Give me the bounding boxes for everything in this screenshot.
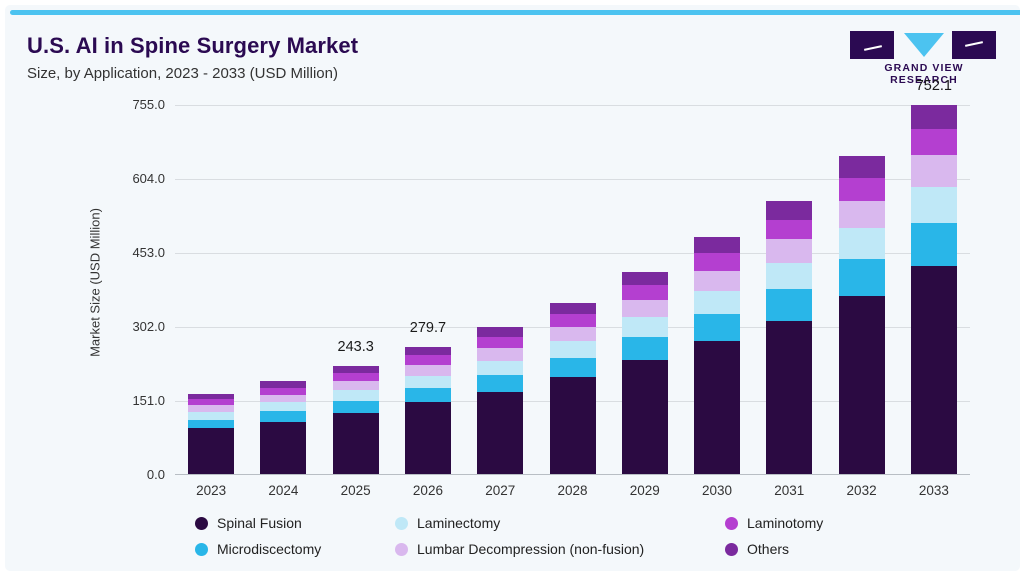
bar-segment[interactable]: [839, 201, 885, 228]
legend-color-swatch: [395, 543, 408, 556]
legend-color-swatch: [195, 517, 208, 530]
bar-stack[interactable]: [839, 156, 885, 474]
x-axis-tick-label: 2025: [316, 483, 396, 498]
bar-segment[interactable]: [333, 401, 379, 413]
bar-stack[interactable]: [766, 201, 812, 474]
bar-segment[interactable]: [405, 365, 451, 376]
y-axis-tick-label: 302.0: [45, 319, 165, 334]
bar-segment[interactable]: [477, 392, 523, 474]
x-axis-tick-label: 2032: [822, 483, 902, 498]
bar-segment[interactable]: [694, 314, 740, 341]
bar-segment[interactable]: [839, 228, 885, 259]
bar-segment[interactable]: [694, 271, 740, 291]
bar-value-label: 752.1: [884, 78, 984, 94]
y-axis-title: Market Size (USD Million): [83, 105, 99, 475]
bar-segment[interactable]: [622, 337, 668, 360]
bar-segment[interactable]: [260, 402, 306, 411]
bar-stack[interactable]: [622, 272, 668, 474]
bar-segment[interactable]: [766, 263, 812, 289]
bar-segment[interactable]: [333, 381, 379, 390]
bar-segment[interactable]: [477, 375, 523, 392]
logo-triangle-icon: [904, 33, 944, 57]
bar-stack[interactable]: [477, 327, 523, 474]
bar-segment[interactable]: [911, 129, 957, 155]
legend-label: Spinal Fusion: [217, 515, 302, 531]
page-subtitle: Size, by Application, 2023 - 2033 (USD M…: [27, 65, 338, 82]
bar-segment[interactable]: [622, 300, 668, 317]
bar-stack[interactable]: [911, 105, 957, 474]
x-axis-tick-label: 2028: [533, 483, 613, 498]
bar-segment[interactable]: [550, 358, 596, 378]
bar-segment[interactable]: [766, 321, 812, 474]
bar-segment[interactable]: [911, 223, 957, 266]
bar-segment[interactable]: [333, 413, 379, 474]
legend-item[interactable]: Microdiscectomy: [195, 536, 395, 562]
bar-segment[interactable]: [260, 395, 306, 403]
x-axis-tick-label: 2024: [243, 483, 323, 498]
bar-segment[interactable]: [694, 291, 740, 314]
bar-segment[interactable]: [766, 289, 812, 320]
grand-view-research-logo: GRAND VIEW RESEARCH: [850, 31, 998, 77]
y-axis-tick-label: 453.0: [45, 245, 165, 260]
legend-label: Laminotomy: [747, 515, 823, 531]
bar-segment[interactable]: [839, 156, 885, 178]
bar-segment[interactable]: [405, 388, 451, 402]
bar-value-label: 279.7: [378, 320, 478, 336]
plot-area: 0.0151.0302.0453.0604.0755.0202320242025…: [175, 105, 970, 475]
chart-frame: U.S. AI in Spine Surgery Market Size, by…: [0, 0, 1025, 576]
legend-color-swatch: [395, 517, 408, 530]
bar-segment[interactable]: [188, 405, 234, 412]
x-axis-line: [175, 474, 970, 475]
bar-segment[interactable]: [766, 239, 812, 263]
x-axis-tick-label: 2031: [749, 483, 829, 498]
bar-segment[interactable]: [694, 341, 740, 474]
bar-segment[interactable]: [911, 155, 957, 187]
bar-segment[interactable]: [477, 337, 523, 348]
bar-value-label: 243.3: [306, 339, 406, 355]
legend-label: Others: [747, 541, 789, 557]
bar-stack[interactable]: [260, 381, 306, 474]
bar-segment[interactable]: [260, 411, 306, 421]
y-axis-tick-label: 0.0: [45, 467, 165, 482]
bar-segment[interactable]: [405, 376, 451, 388]
bar-segment[interactable]: [550, 327, 596, 342]
bar-segment[interactable]: [550, 341, 596, 358]
legend-item[interactable]: Laminectomy: [395, 510, 725, 536]
bar-segment[interactable]: [622, 272, 668, 286]
bar-segment[interactable]: [333, 366, 379, 373]
y-axis-title-text: Market Size (USD Million): [88, 148, 103, 418]
bar-segment[interactable]: [405, 402, 451, 474]
bar-segment[interactable]: [911, 105, 957, 128]
bar-segment[interactable]: [188, 412, 234, 420]
legend-label: Laminectomy: [417, 515, 500, 531]
logo-block-left: [850, 31, 894, 59]
bar-segment[interactable]: [188, 399, 234, 405]
bar-stack[interactable]: [333, 366, 379, 474]
legend-color-swatch: [725, 517, 738, 530]
bar-stack[interactable]: [694, 237, 740, 474]
bar-segment[interactable]: [260, 381, 306, 387]
bar-stack[interactable]: [188, 394, 234, 474]
bar-segment[interactable]: [550, 377, 596, 474]
bar-segment[interactable]: [622, 285, 668, 300]
bar-segment[interactable]: [405, 355, 451, 364]
bar-segment[interactable]: [766, 220, 812, 240]
y-axis-tick-label: 755.0: [45, 97, 165, 112]
bar-segment[interactable]: [550, 314, 596, 326]
bar-segment[interactable]: [839, 178, 885, 201]
legend-item[interactable]: Spinal Fusion: [195, 510, 395, 536]
bar-segment[interactable]: [911, 187, 957, 223]
bar-segment[interactable]: [260, 388, 306, 395]
page-title: U.S. AI in Spine Surgery Market: [27, 33, 358, 59]
x-axis-tick-label: 2029: [605, 483, 685, 498]
top-accent-bar: [10, 10, 1025, 15]
bar-segment[interactable]: [260, 422, 306, 474]
bar-segment[interactable]: [188, 420, 234, 429]
x-axis-tick-label: 2023: [171, 483, 251, 498]
bar-segment[interactable]: [766, 201, 812, 220]
x-axis-tick-label: 2030: [677, 483, 757, 498]
bar-segment[interactable]: [188, 428, 234, 474]
bar-stack[interactable]: [550, 302, 596, 474]
legend-item[interactable]: Laminotomy: [725, 510, 855, 536]
bar-segment[interactable]: [405, 347, 451, 356]
bar-segment[interactable]: [839, 296, 885, 474]
legend-label: Microdiscectomy: [217, 541, 321, 557]
bar-segment[interactable]: [839, 259, 885, 296]
x-axis-tick-label: 2026: [388, 483, 468, 498]
bar-segment[interactable]: [550, 303, 596, 315]
y-axis-tick-label: 151.0: [45, 393, 165, 408]
bar-segment[interactable]: [477, 361, 523, 375]
chart-legend: Spinal FusionLaminectomyLaminotomyMicrod…: [195, 510, 855, 562]
bar-segment[interactable]: [477, 327, 523, 337]
legend-item[interactable]: Lumbar Decompression (non-fusion): [395, 536, 725, 562]
bar-segment[interactable]: [622, 317, 668, 337]
gridline: [175, 105, 970, 106]
y-axis-tick-label: 604.0: [45, 171, 165, 186]
bar-segment[interactable]: [188, 394, 234, 399]
legend-label: Lumbar Decompression (non-fusion): [417, 541, 644, 557]
bar-stack[interactable]: [405, 347, 451, 474]
bar-segment[interactable]: [694, 253, 740, 270]
bar-segment[interactable]: [694, 237, 740, 253]
x-axis-tick-label: 2027: [460, 483, 540, 498]
legend-item[interactable]: Others: [725, 536, 855, 562]
bar-segment[interactable]: [333, 373, 379, 381]
bar-segment[interactable]: [622, 360, 668, 474]
bar-segment[interactable]: [477, 348, 523, 361]
bar-segment[interactable]: [333, 390, 379, 400]
legend-color-swatch: [725, 543, 738, 556]
bar-segment[interactable]: [911, 266, 957, 474]
legend-color-swatch: [195, 543, 208, 556]
x-axis-tick-label: 2033: [894, 483, 974, 498]
